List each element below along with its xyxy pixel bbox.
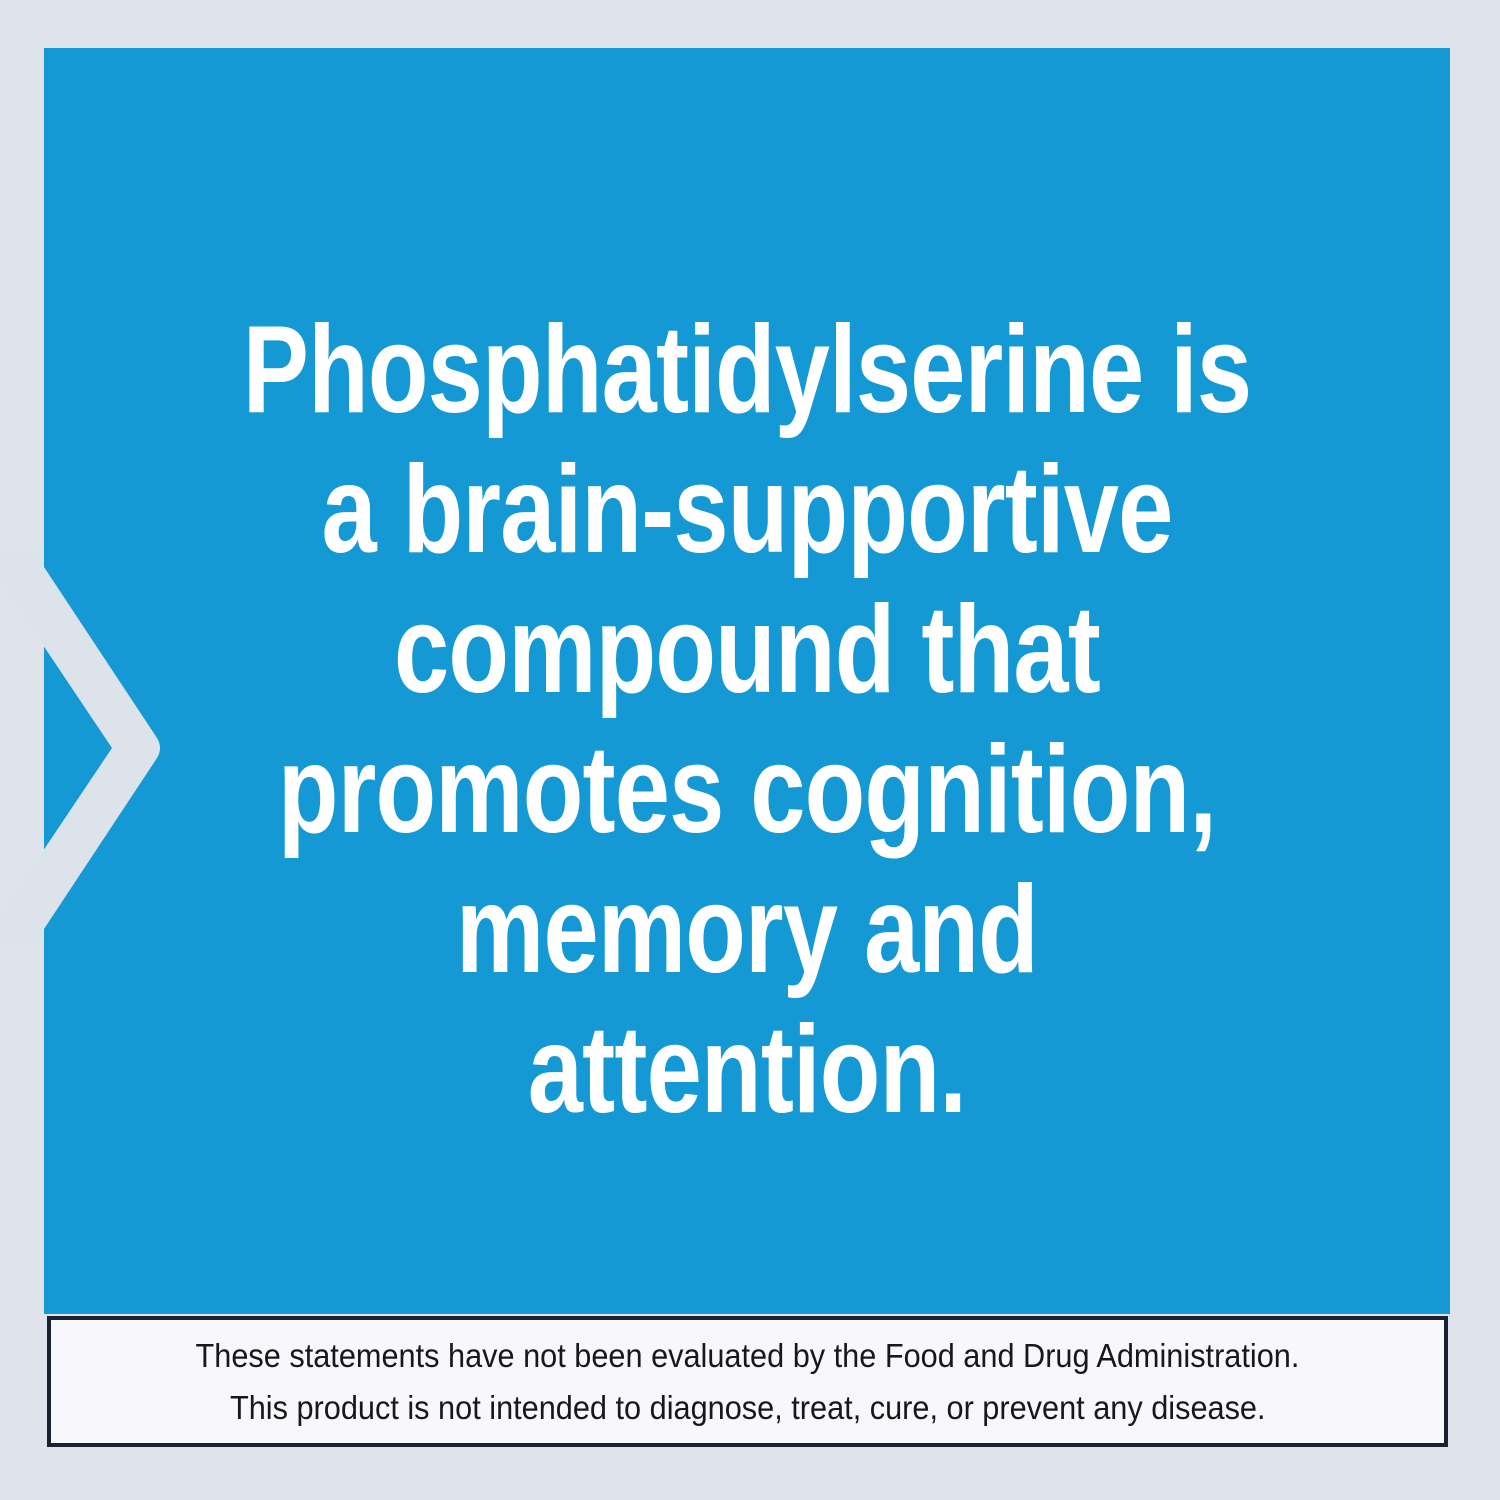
- headline-line: a brain-supportive: [185, 440, 1310, 580]
- fda-disclaimer: These statements have not been evaluated…: [47, 1316, 1448, 1447]
- disclaimer-line: This product is not intended to diagnose…: [230, 1382, 1266, 1434]
- headline-line: compound that: [185, 580, 1310, 720]
- headline-line: attention.: [185, 1000, 1310, 1140]
- promo-card: Phosphatidylserine is a brain-supportive…: [0, 0, 1500, 1500]
- disclaimer-line: These statements have not been evaluated…: [196, 1330, 1300, 1382]
- headline-line: Phosphatidylserine is: [185, 300, 1310, 440]
- headline-line: promotes cognition,: [185, 720, 1310, 860]
- page-title: Phosphatidylserine is a brain-supportive…: [185, 300, 1310, 1140]
- headline-line: memory and: [185, 860, 1310, 1000]
